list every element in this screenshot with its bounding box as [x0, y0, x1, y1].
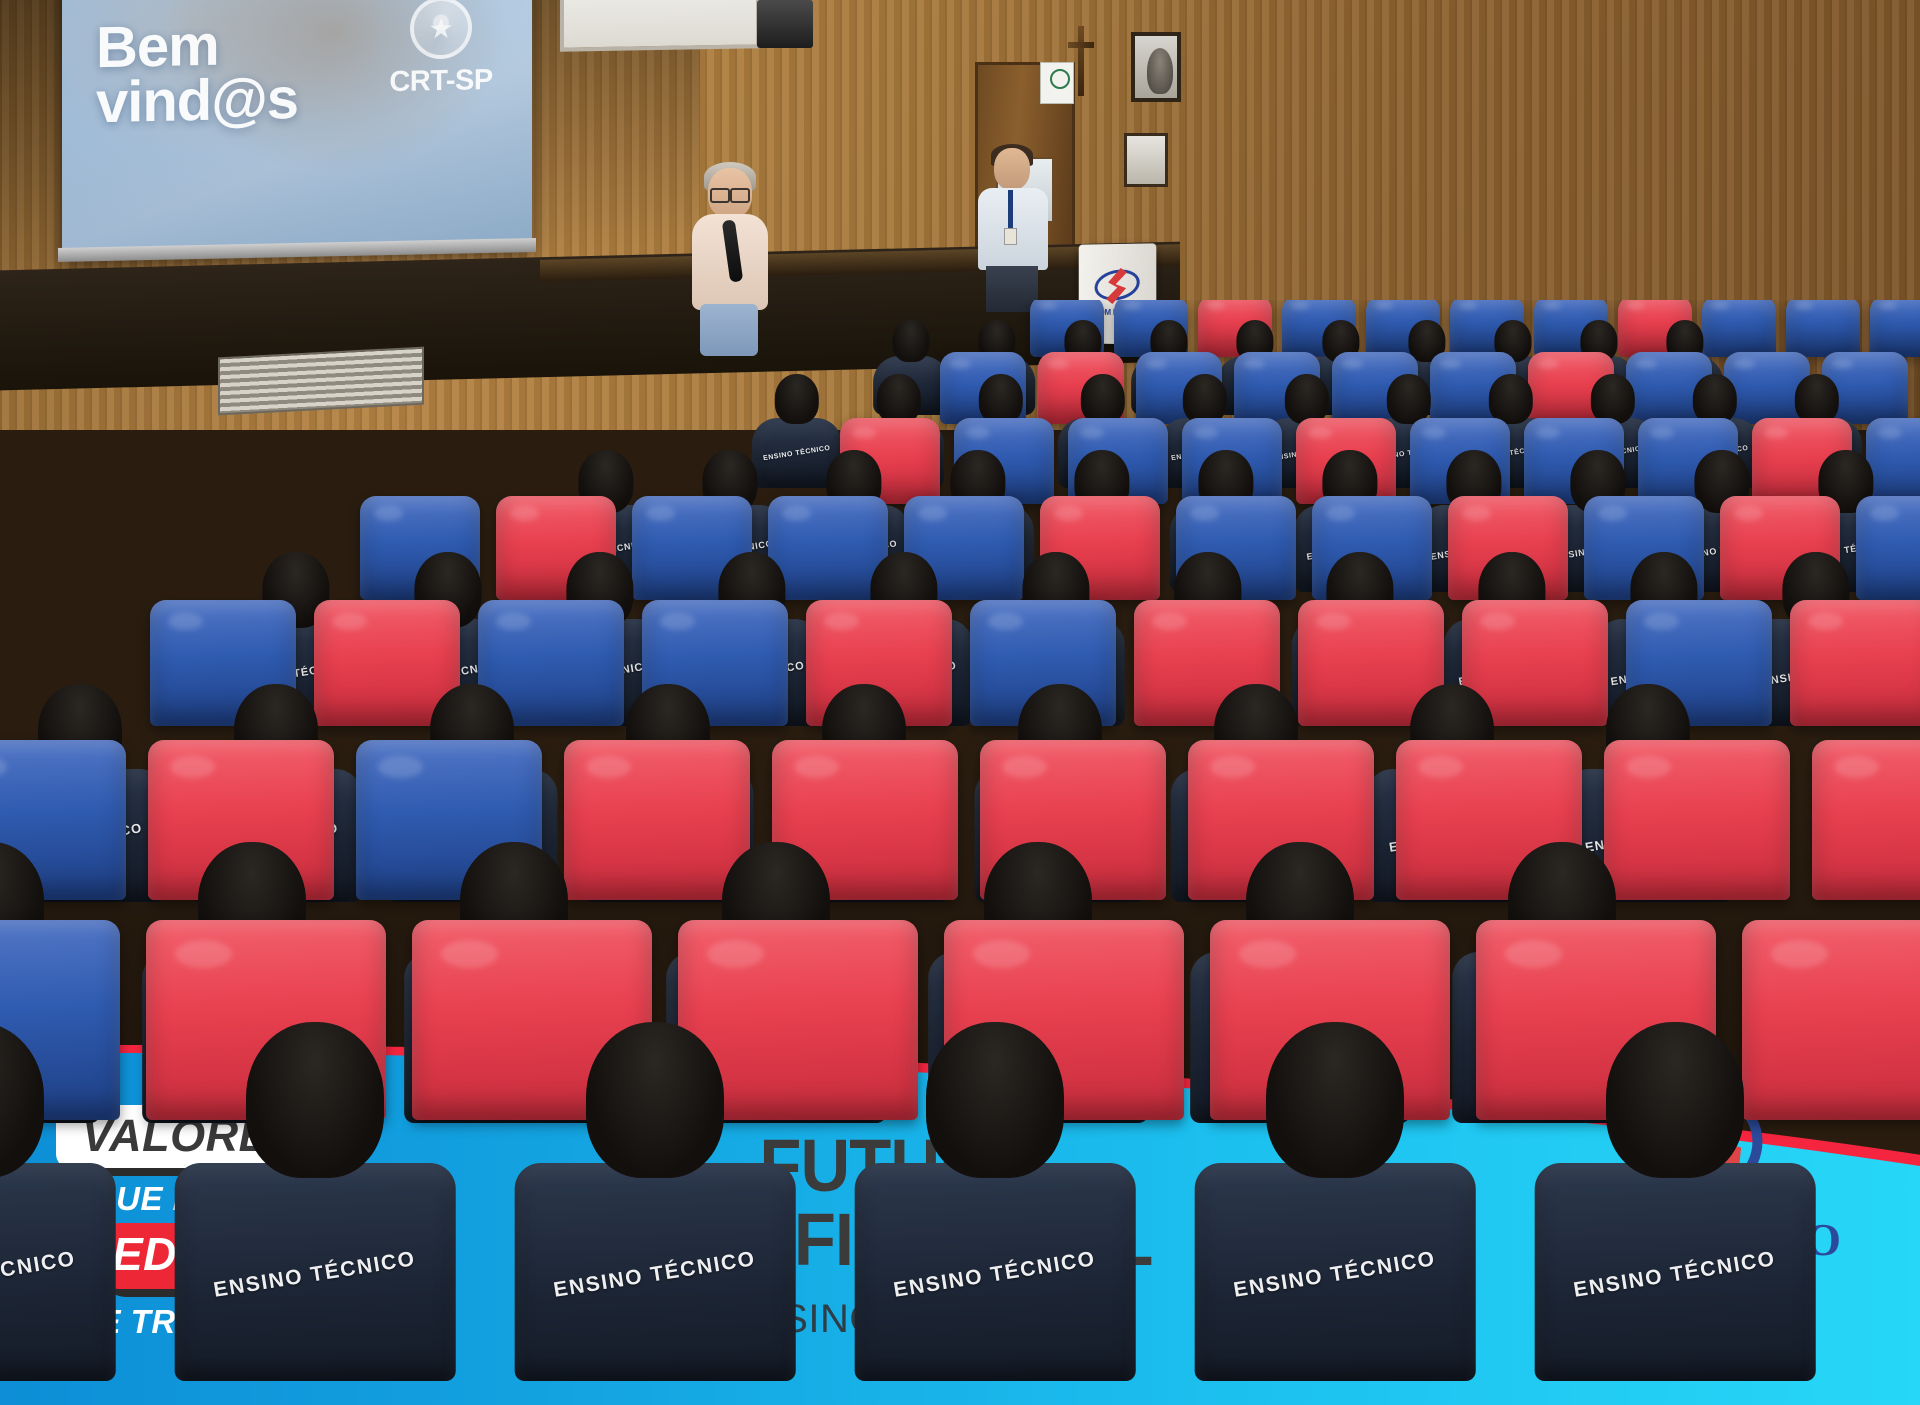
- student-head: [1489, 374, 1533, 424]
- projection-screen: Bem vind@s CRT-SP: [62, 0, 532, 261]
- student-shirt: ENSINO TÉCNICO: [1535, 1163, 1816, 1382]
- framed-certificate: [1124, 133, 1168, 187]
- student-head: [1183, 374, 1227, 424]
- student: ENSINO TÉCNICO: [880, 1020, 1110, 1365]
- framed-portrait: [1131, 32, 1181, 102]
- student-head: [0, 1022, 44, 1178]
- student-shirt: ENSINO TÉCNICO: [515, 1163, 796, 1382]
- student-head: [1285, 374, 1329, 424]
- shirt-text: ENSINO TÉCNICO: [1572, 1247, 1778, 1303]
- student-head: [877, 374, 921, 424]
- staff-head: [994, 148, 1030, 190]
- student: ENSINO TÉCNICO: [540, 1020, 770, 1365]
- shirt-text: ENSINO TÉCNICO: [212, 1247, 418, 1303]
- student-shirt: ENSINO TÉCNICO: [0, 1163, 115, 1382]
- student-head: [586, 1022, 724, 1178]
- no-smoking-sign-icon: [1040, 62, 1074, 104]
- student-head: [1591, 374, 1635, 424]
- student-head: [1606, 1022, 1744, 1178]
- auditorium-seat: [1786, 300, 1860, 357]
- glasses-icon: [710, 188, 750, 199]
- student-shirt: ENSINO TÉCNICO: [1195, 1163, 1476, 1382]
- poster-root: Bem vind@s CRT-SP: [0, 0, 1920, 1405]
- shirt-text: ENSINO TÉCNICO: [1232, 1247, 1438, 1303]
- crt-sp-block: CRT-SP: [376, 0, 506, 99]
- shirt-text: ENSINO TÉCNICO: [0, 1247, 78, 1303]
- student-head: [1795, 374, 1839, 424]
- audience-seating: ENSINO TÉCNICOENSINO TÉCNICOENSINO TÉCNI…: [0, 300, 1920, 1405]
- student-head: [775, 374, 819, 424]
- id-badge: [1004, 228, 1017, 245]
- whiteboard: [560, 0, 760, 52]
- brazil-coat-of-arms-icon: [410, 0, 472, 60]
- student-head: [926, 1022, 1064, 1178]
- student-shirt: ENSINO TÉCNICO: [855, 1163, 1136, 1382]
- student-head: [1693, 374, 1737, 424]
- auditorium-photo: Bem vind@s CRT-SP: [0, 0, 1920, 1405]
- student-head: [979, 374, 1023, 424]
- shirt-text: ENSINO TÉCNICO: [552, 1247, 758, 1303]
- student-head: [1387, 374, 1431, 424]
- student-shirt: ENSINO TÉCNICO: [175, 1163, 456, 1382]
- student: ENSINO TÉCNICO: [200, 1020, 430, 1365]
- student: ENSINO TÉCNICO: [0, 1020, 90, 1365]
- lanyard: [1008, 190, 1013, 230]
- student-head: [1081, 374, 1125, 424]
- student: ENSINO TÉCNICO: [1220, 1020, 1450, 1365]
- crt-sp-label: CRT-SP: [376, 64, 506, 100]
- auditorium-seat: [1812, 740, 1920, 900]
- student-head: [246, 1022, 384, 1178]
- staff-member: [978, 148, 1048, 308]
- speaker-cabinet: [757, 0, 813, 48]
- auditorium-seat: [1790, 600, 1920, 726]
- student-head: [1266, 1022, 1404, 1178]
- student: ENSINO TÉCNICO: [1560, 1020, 1790, 1365]
- auditorium-seat: [1870, 300, 1920, 357]
- student-head: [892, 320, 929, 362]
- shirt-text: ENSINO TÉCNICO: [892, 1247, 1098, 1303]
